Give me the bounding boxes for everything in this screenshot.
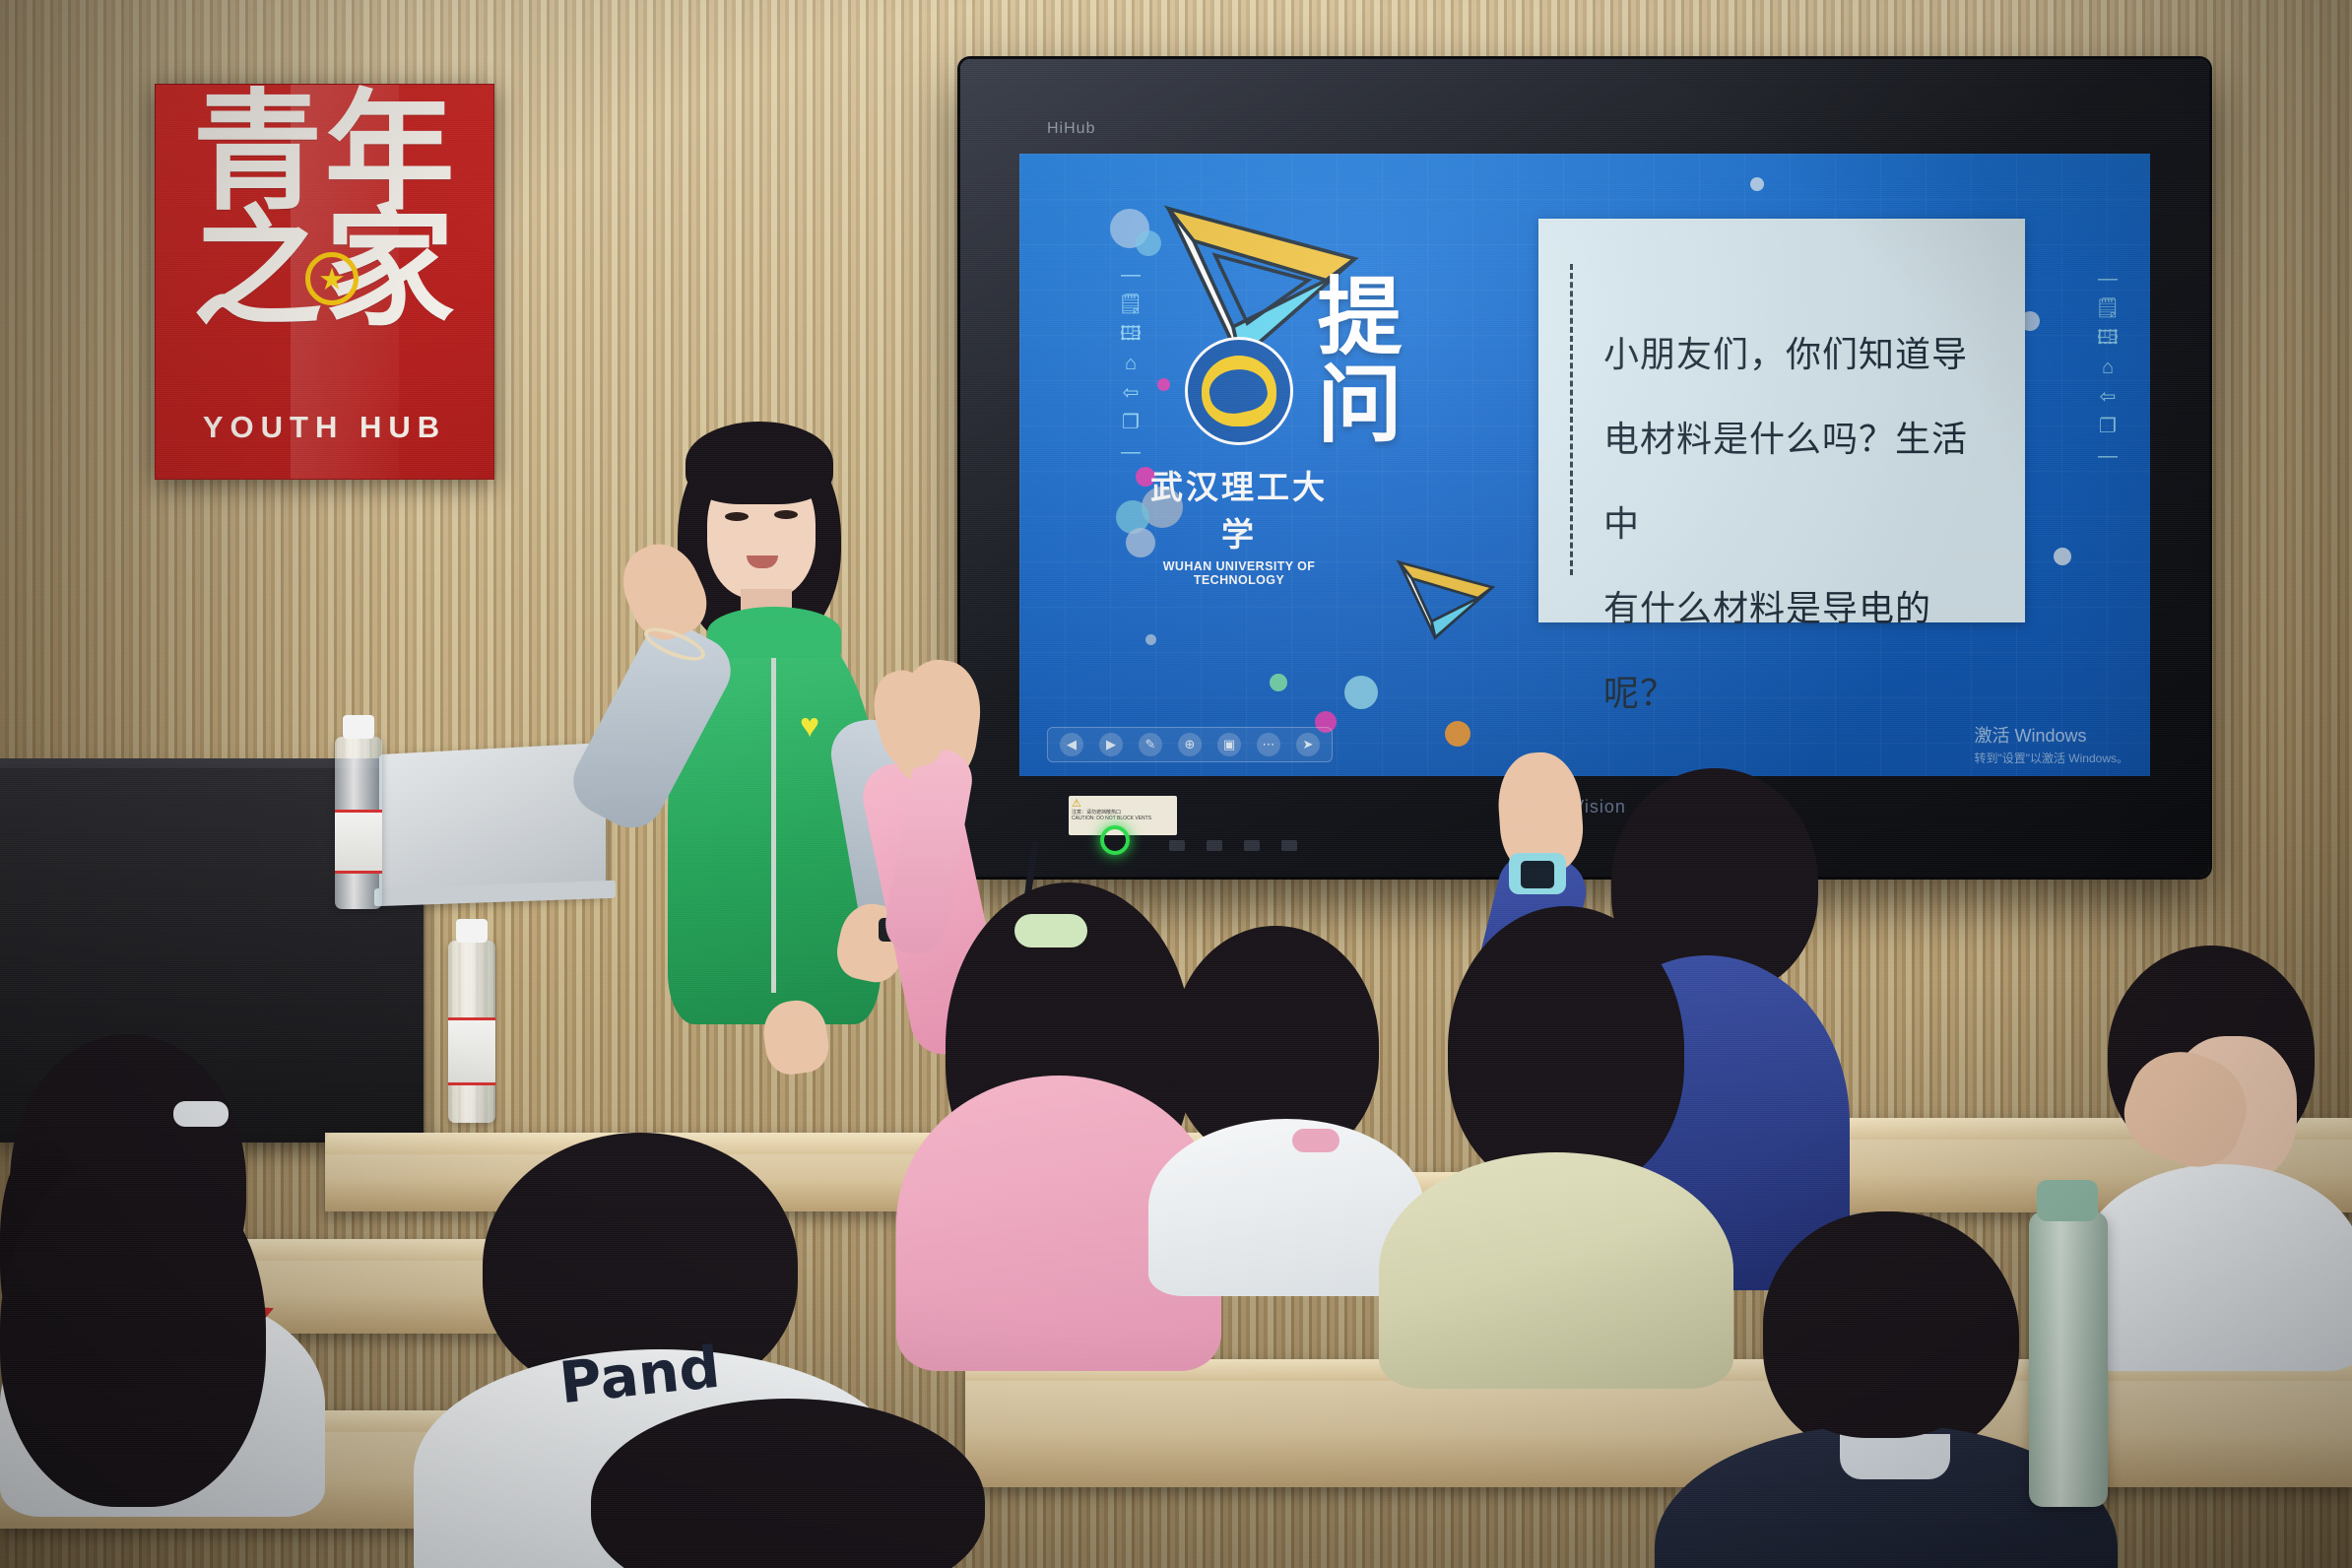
divider-line-icon: — bbox=[1114, 437, 1147, 467]
decor-dot bbox=[1145, 634, 1156, 645]
youth-hub-poster: 青年 之家 ★ YOUTH HUB bbox=[155, 84, 494, 480]
presenter-eye-right bbox=[774, 510, 798, 519]
university-seal-icon bbox=[1185, 337, 1293, 445]
pointer-button[interactable]: ➤ bbox=[1296, 733, 1320, 756]
back-arrow-icon: ⇦ bbox=[1114, 378, 1147, 408]
blackboard-icon: 🖽 bbox=[1114, 319, 1147, 349]
bottle-cap-icon bbox=[456, 919, 488, 943]
poster-chinese-text: 青年 之家 bbox=[156, 95, 493, 390]
home-icon: ⌂ bbox=[2091, 353, 2124, 382]
notebook-icon: 🗒 bbox=[1114, 290, 1147, 319]
poster-char-3: 之 bbox=[193, 211, 325, 327]
decor-dot bbox=[1136, 467, 1155, 487]
divider-line-icon: — bbox=[2091, 441, 2124, 471]
question-line-3: 有什么材料是导电的呢？ bbox=[1603, 567, 1997, 737]
student-front-center bbox=[591, 1399, 1005, 1568]
laptop-lid bbox=[379, 743, 606, 902]
notebook-icon: 🗒 bbox=[2091, 294, 2124, 323]
aux-port-icon bbox=[1281, 840, 1297, 851]
slide-heading: 提问 bbox=[1305, 272, 1398, 447]
decor-dot bbox=[2020, 311, 2040, 331]
presenter-vest-zipper bbox=[771, 638, 776, 993]
slide-decor-icons-left: — 🗒 🖽 ⌂ ⇦ ❐ — bbox=[1114, 260, 1147, 467]
student-raised-arm bbox=[881, 745, 977, 959]
camera-button[interactable]: ▣ bbox=[1217, 733, 1241, 756]
student-hair-clip bbox=[173, 1101, 229, 1127]
student-hand bbox=[2113, 1037, 2260, 1179]
penrose-triangle-icon bbox=[1153, 187, 1370, 384]
student-smartwatch-screen bbox=[1521, 861, 1554, 888]
decor-dot bbox=[2054, 548, 2071, 565]
student-right-hand bbox=[2127, 1054, 2275, 1192]
presenter-eye-left bbox=[725, 512, 749, 521]
decor-dot bbox=[1157, 378, 1170, 391]
water-bottle-podium bbox=[335, 737, 382, 909]
student-hair bbox=[1448, 906, 1684, 1192]
decor-dot bbox=[1344, 676, 1378, 709]
blackboard-icon: 🖽 bbox=[2091, 323, 2124, 353]
layers-icon: ❐ bbox=[1114, 408, 1147, 437]
slide-decor-icons-right: — 🗒 🖽 ⌂ ⇦ ❐ — bbox=[2091, 264, 2124, 471]
student-hair-tie bbox=[1292, 1129, 1339, 1152]
windows-activation-watermark: 激活 Windows 转到"设置"以激活 Windows。 bbox=[1974, 722, 2128, 766]
seal-wave-mark bbox=[1202, 356, 1276, 426]
university-logo: 武汉理工大学 WUHAN UNIVERSITY OF TECHNOLOGY bbox=[1145, 337, 1333, 587]
layers-icon: ❐ bbox=[2091, 412, 2124, 441]
card-dashed-rule bbox=[1570, 264, 1573, 575]
divider-line-icon: — bbox=[1114, 260, 1147, 290]
decor-dot bbox=[1110, 209, 1149, 248]
student-hair bbox=[591, 1399, 985, 1568]
university-name-cn: 武汉理工大学 bbox=[1145, 461, 1333, 555]
sport-bottle-cap-icon bbox=[2037, 1180, 2098, 1221]
divider-line-icon: — bbox=[2091, 264, 2124, 294]
decor-dot bbox=[1270, 674, 1287, 691]
decor-dot bbox=[1136, 230, 1161, 256]
poster-english-text: YOUTH HUB bbox=[156, 410, 493, 445]
back-arrow-icon: ⇦ bbox=[2091, 382, 2124, 412]
student-left-hand-up bbox=[867, 630, 1064, 946]
water-bottle-desk bbox=[448, 941, 495, 1123]
display-top-brand: HiHub bbox=[1047, 120, 1095, 138]
decor-dot bbox=[1445, 721, 1470, 747]
student-front-far-left bbox=[0, 1152, 295, 1568]
decor-dot bbox=[1973, 264, 2006, 297]
presenter-fringe bbox=[686, 422, 833, 504]
bottle-cap-icon bbox=[343, 715, 374, 739]
bottle-label bbox=[335, 810, 382, 875]
question-line-2: 电材料是什么吗？生活中 bbox=[1603, 398, 1997, 567]
slide-question-text: 小朋友们，你们知道导 电材料是什么吗？生活中 有什么材料是导电的呢？ bbox=[1603, 313, 1997, 737]
classroom-photo: 青年 之家 ★ YOUTH HUB HiHub bbox=[0, 0, 2352, 1568]
home-icon: ⌂ bbox=[1114, 349, 1147, 378]
decor-dot bbox=[1126, 528, 1155, 557]
decor-dot bbox=[1116, 500, 1149, 534]
decor-dot bbox=[1142, 487, 1183, 528]
student-hair bbox=[0, 1152, 266, 1507]
penrose-triangle-small-icon bbox=[1392, 552, 1500, 650]
youth-league-star-icon: ★ bbox=[305, 252, 359, 305]
watermark-line-2: 转到"设置"以激活 Windows。 bbox=[1974, 750, 2128, 766]
decor-dot bbox=[1315, 711, 1337, 733]
question-line-1: 小朋友们，你们知道导 bbox=[1603, 313, 1997, 398]
more-options-button[interactable]: ⋯ bbox=[1257, 733, 1280, 756]
bottle-label bbox=[448, 1017, 495, 1085]
audio-port-icon bbox=[1244, 840, 1260, 851]
hdmi-port-icon bbox=[1207, 840, 1222, 851]
student-hair bbox=[1763, 1211, 1999, 1438]
watermark-line-1: 激活 Windows bbox=[1974, 722, 2128, 748]
slide-question-card: 小朋友们，你们知道导 电材料是什么吗？生活中 有什么材料是导电的呢？ bbox=[1538, 219, 2025, 622]
decor-dot bbox=[1750, 177, 1764, 191]
sport-bottle-right bbox=[2029, 1211, 2108, 1507]
university-name-en: WUHAN UNIVERSITY OF TECHNOLOGY bbox=[1145, 559, 1333, 587]
